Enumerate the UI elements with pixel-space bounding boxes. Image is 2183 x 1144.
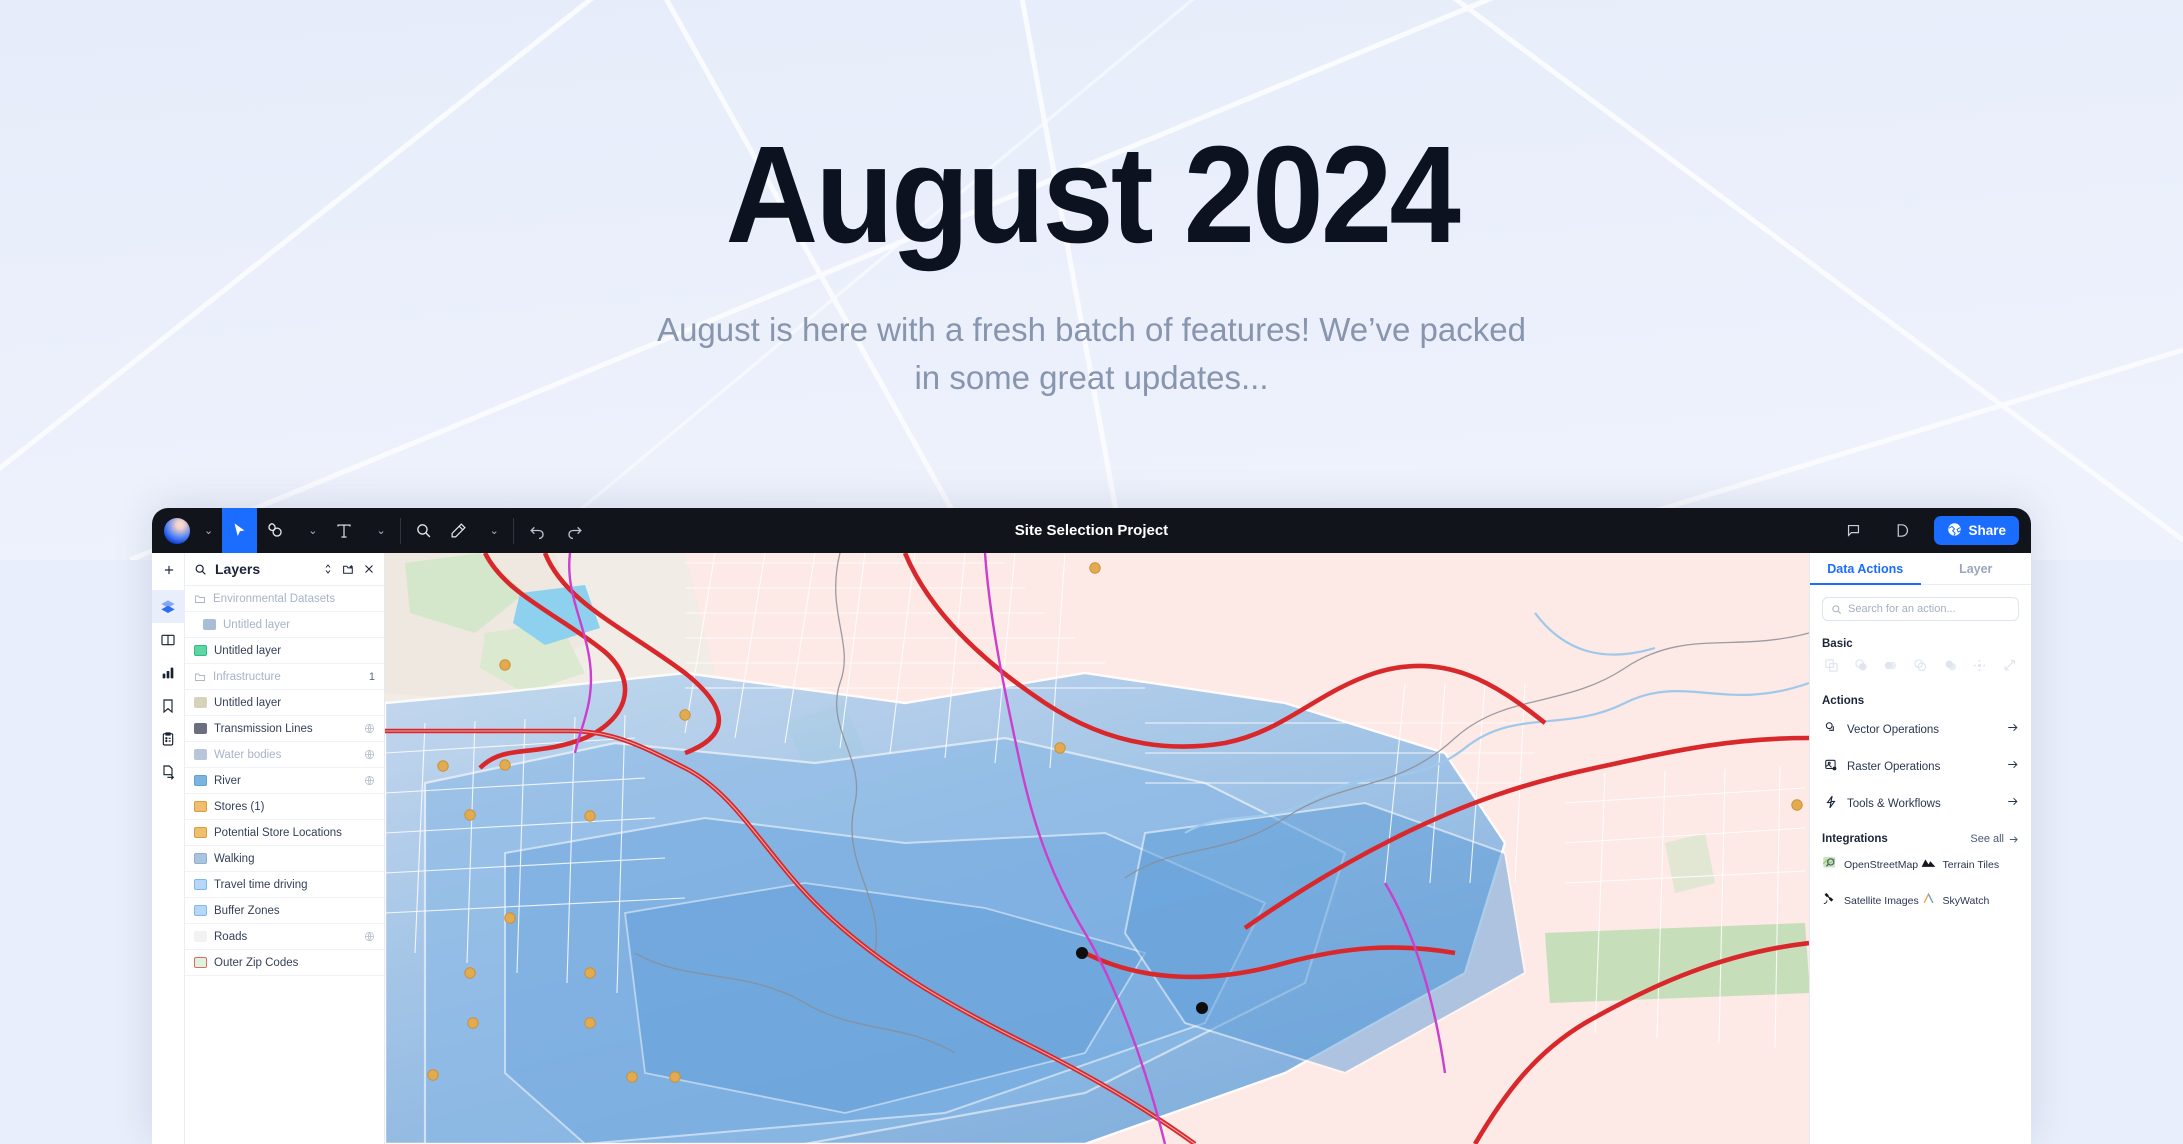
undo-tool[interactable] [519,508,556,553]
layer-color-swatch[interactable] [194,697,207,708]
layer-row[interactable]: Transmission Lines [185,716,384,742]
layer-row[interactable]: Walking [185,846,384,872]
sidebar-item-bookmarks[interactable] [152,689,185,722]
integration-terrain-tiles[interactable]: Terrain Tiles [1921,855,2020,875]
layer-color-swatch[interactable] [194,879,207,890]
integrations-section-title: Integrations [1822,833,1888,845]
action-label: Tools & Workflows [1847,798,1997,810]
comment-icon[interactable] [1836,508,1871,553]
integration-label: Terrain Tiles [1943,859,2000,871]
layer-name: Travel time driving [214,879,375,891]
satellite-icon [1822,891,1837,911]
integrations-header: Integrations See all [1822,833,2019,845]
action-label: Vector Operations [1847,724,1997,736]
layers-list: Environmental DatasetsUntitled layerUnti… [185,586,384,976]
app-toolbar: ⌄ ⌄ ⌄ [152,508,2031,553]
actions-section-title: Actions [1822,695,2019,707]
shapes-tool[interactable] [257,508,294,553]
sort-icon[interactable] [322,563,334,575]
right-panel-tabs: Data Actions Layer [1810,553,2031,585]
select-pointer-tool[interactable] [222,508,257,553]
measure-chevron-icon[interactable]: ⌄ [476,508,508,553]
folder-icon [194,671,206,683]
layer-name: Transmission Lines [214,723,357,735]
map-canvas[interactable] [385,553,1809,1144]
map-render [385,553,1809,1144]
raster-operations-icon [1824,758,1838,777]
share-button[interactable]: Share [1934,516,2019,545]
shapes-chevron-icon[interactable]: ⌄ [294,508,326,553]
integration-label: OpenStreetMap [1844,859,1918,871]
integrations-grid: OpenStreetMap Terrain Tiles Satellite Im… [1822,855,2019,911]
sidebar-item-layers[interactable] [152,590,185,623]
action-label: Raster Operations [1847,761,1997,773]
clip-icon[interactable] [1824,658,1839,678]
arrow-right-icon [2006,721,2019,739]
action-vector-operations[interactable]: Vector Operations [1822,715,2019,745]
page-title: August 2024 [725,126,1457,264]
symmetric-difference-icon[interactable] [1943,658,1958,678]
layer-color-swatch[interactable] [194,905,207,916]
layer-count: 1 [369,671,375,683]
arrow-right-icon [2006,795,2019,813]
see-all-label: See all [1970,833,2004,845]
layer-row[interactable]: Potential Store Locations [185,820,384,846]
layer-name: Infrastructure [213,671,362,683]
globe-icon[interactable] [364,931,375,942]
layers-panel-header: Layers [185,553,384,586]
measure-tool[interactable] [441,508,476,553]
toolbar-left-group: ⌄ ⌄ ⌄ [152,508,593,553]
page-subtitle: August is here with a fresh batch of fea… [642,306,1542,402]
tab-data-actions[interactable]: Data Actions [1810,553,1921,584]
layer-name: Untitled layer [214,645,375,657]
integration-skywatch[interactable]: SkyWatch [1921,891,2020,911]
redo-tool[interactable] [556,508,593,553]
layer-color-swatch[interactable] [194,957,207,968]
layer-row[interactable]: Stores (1) [185,794,384,820]
intersect-icon[interactable] [1883,658,1898,678]
layer-color-swatch[interactable] [194,931,207,942]
action-search-placeholder: Search for an action... [1848,603,1956,615]
globe-icon [1947,522,1962,540]
toolbar-divider-2 [513,518,514,544]
layer-name: Untitled layer [214,697,375,709]
right-panel: Data Actions Layer Search for an action.… [1809,553,2031,1144]
layer-row[interactable]: Water bodies [185,742,384,768]
right-panel-body: Search for an action... Basic Actions Ve… [1810,585,2031,911]
see-all-link[interactable]: See all [1970,833,2019,845]
layer-color-swatch[interactable] [203,619,216,630]
arrow-right-icon [2006,758,2019,776]
layer-name: Water bodies [214,749,357,761]
globe-icon[interactable] [364,775,375,786]
integration-label: SkyWatch [1943,895,1990,907]
union-icon[interactable] [1854,658,1869,678]
layer-row[interactable]: Outer Zip Codes [185,950,384,976]
sidebar-item-charts[interactable] [152,656,185,689]
arrow-right-icon [2008,834,2019,845]
layer-color-swatch[interactable] [194,853,207,864]
tab-layer[interactable]: Layer [1921,553,2032,584]
app-logo-sphere-icon[interactable] [164,518,190,544]
left-rail [152,553,185,1144]
layers-panel-title: Layers [215,561,314,577]
sidebar-item-library[interactable] [152,623,185,656]
integration-satellite-images[interactable]: Satellite Images [1822,891,1921,911]
layer-name: Walking [214,853,375,865]
expand-icon[interactable] [2002,658,2017,678]
add-layer-button[interactable] [152,553,185,586]
layer-row[interactable]: Roads [185,924,384,950]
hero-section: August 2024 August is here with a fresh … [0,0,2183,500]
layer-name: Potential Store Locations [214,827,375,839]
globe-icon[interactable] [364,749,375,760]
integration-label: Satellite Images [1844,895,1919,907]
simplify-icon[interactable] [1972,658,1987,678]
layer-row[interactable]: Untitled layer [185,612,384,638]
layer-name: Outer Zip Codes [214,957,375,969]
layer-row[interactable]: River [185,768,384,794]
app-window: ⌄ ⌄ ⌄ [152,508,2031,1144]
share-label: Share [1968,523,2006,538]
layer-color-swatch[interactable] [194,775,207,786]
layer-name: Environmental Datasets [213,593,375,605]
play-icon[interactable] [1885,508,1920,553]
openstreetmap-icon [1822,855,1837,875]
text-chevron-icon[interactable]: ⌄ [362,508,394,553]
sidebar-item-tasks[interactable] [152,722,185,755]
layer-color-swatch[interactable] [194,801,207,812]
layer-row[interactable]: Untitled layer [185,690,384,716]
integration-openstreetmap[interactable]: OpenStreetMap [1822,855,1921,875]
search-icon [1831,604,1842,615]
vector-operations-icon [1824,721,1838,740]
basic-section-title: Basic [1822,638,2019,650]
layer-row[interactable]: Infrastructure1 [185,664,384,690]
logo-menu-chevron-icon[interactable]: ⌄ [190,508,222,553]
search-icon[interactable] [194,563,207,576]
toolbar-right-group: Share [1836,508,2019,553]
mountain-icon [1921,855,1936,875]
text-tool[interactable] [326,508,362,553]
layer-row[interactable]: Untitled layer [185,638,384,664]
layer-name: River [214,775,357,787]
layer-row[interactable]: Buffer Zones [185,898,384,924]
lightning-icon [1824,795,1838,814]
skywatch-icon [1921,891,1936,911]
layer-name: Untitled layer [223,619,375,631]
layer-color-swatch[interactable] [194,645,207,656]
search-tool[interactable] [406,508,441,553]
layers-panel: Layers Environmental DatasetsUntitled la… [185,553,385,1144]
globe-icon[interactable] [364,723,375,734]
layer-row[interactable]: Travel time driving [185,872,384,898]
new-folder-icon[interactable] [342,563,355,576]
folder-icon [194,593,206,605]
action-raster-operations[interactable]: Raster Operations [1822,752,2019,782]
layer-color-swatch[interactable] [194,749,207,760]
action-search-input[interactable]: Search for an action... [1822,597,2019,621]
layer-row[interactable]: Environmental Datasets [185,586,384,612]
action-tools-workflows[interactable]: Tools & Workflows [1822,789,2019,819]
basic-operations-row [1822,658,2019,678]
layer-name: Roads [214,931,357,943]
difference-icon[interactable] [1913,658,1928,678]
layer-name: Stores (1) [214,801,375,813]
layer-name: Buffer Zones [214,905,375,917]
toolbar-divider-1 [400,518,401,544]
layer-color-swatch[interactable] [194,827,207,838]
close-icon[interactable] [363,563,375,575]
layer-color-swatch[interactable] [194,723,207,734]
app-body: Layers Environmental DatasetsUntitled la… [152,553,2031,1144]
sidebar-item-export[interactable] [152,755,185,788]
